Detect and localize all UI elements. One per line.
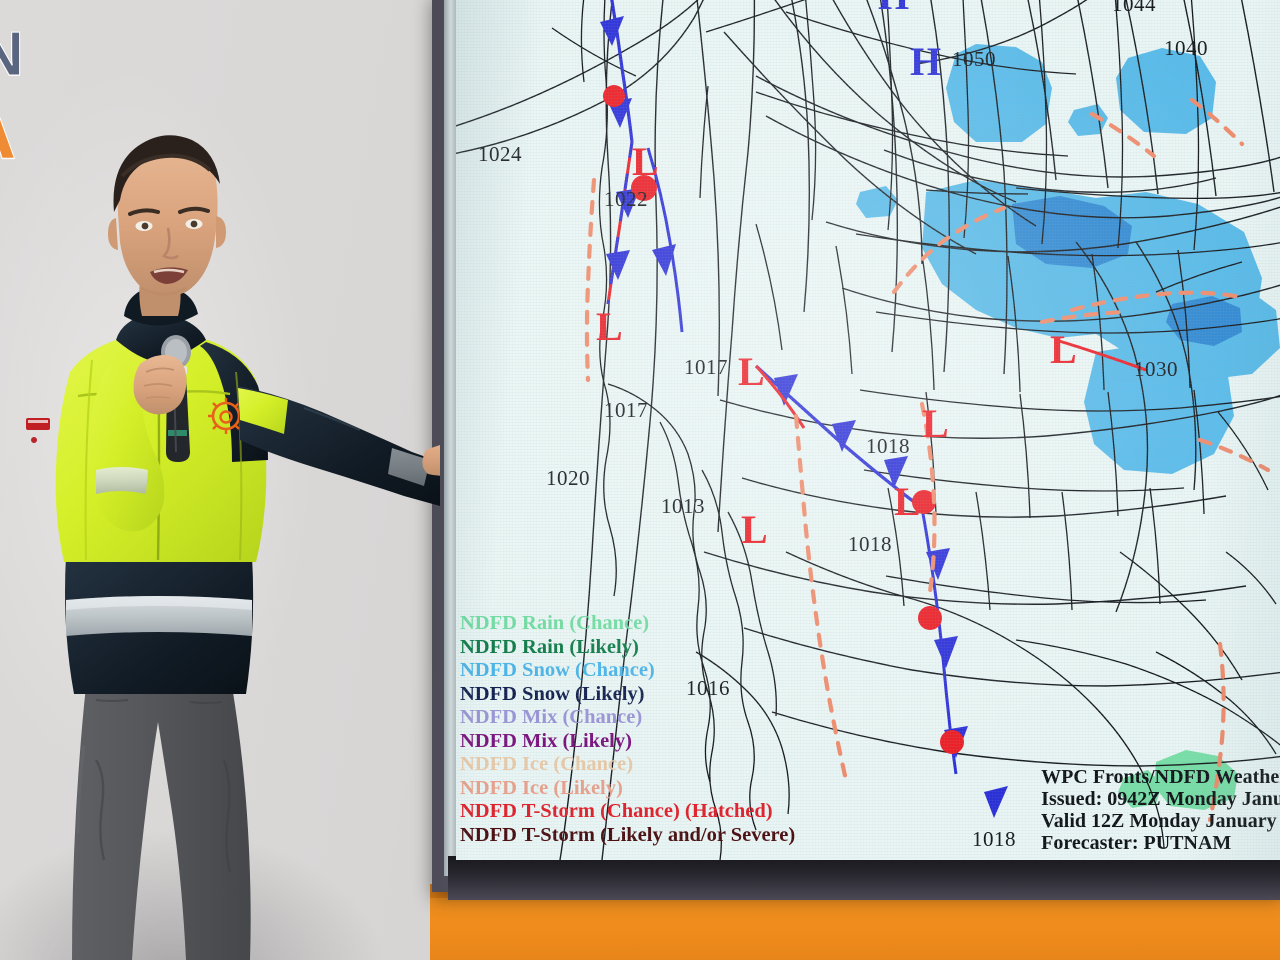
legend-item-snow-chance: NDFD Snow (Chance) [460, 659, 795, 683]
isobar-label: 1040 [1164, 36, 1208, 61]
credits-line-issued: Issued: 0942Z Monday Janua [1041, 788, 1280, 810]
legend-item-rain-chance: NDFD Rain (Chance) [460, 612, 795, 636]
presenter-arm-right-extended [238, 386, 440, 506]
legend-item-tstorm-chance: NDFD T-Storm (Chance) (Hatched) [460, 800, 795, 824]
isobar-label: 1022 [604, 187, 648, 212]
credits-line-valid: Valid 12Z Monday January 2 [1041, 810, 1280, 832]
low-pressure-marker: L [632, 142, 659, 182]
weather-map-display[interactable]: H H L L L L L L L 1024 1022 1017 1017 10… [456, 0, 1280, 860]
legend-item-mix-chance: NDFD Mix (Chance) [460, 706, 795, 730]
ndfd-legend: NDFD Rain (Chance) NDFD Rain (Likely) ND… [460, 612, 795, 847]
isobar-label: 1020 [546, 466, 590, 491]
credits-line-product: WPC Fronts/NDFD Weather [1041, 766, 1280, 788]
legend-item-ice-likely: NDFD Ice (Likely) [460, 777, 795, 801]
presenter-jacket-lower [65, 556, 253, 694]
stage-orange-band [430, 898, 1280, 960]
low-pressure-marker: L [741, 510, 768, 550]
isobar-label: 1024 [478, 142, 522, 167]
legend-item-mix-likely: NDFD Mix (Likely) [460, 730, 795, 754]
high-pressure-marker: H [878, 0, 909, 16]
legend-item-tstorm-severe: NDFD T-Storm (Likely and/or Severe) [460, 824, 795, 848]
low-pressure-marker: L [922, 404, 949, 444]
presenter-pants [72, 686, 251, 960]
presenter-head [108, 135, 226, 296]
isobar-label: 1017 [604, 398, 648, 423]
high-pressure-marker: H [910, 42, 941, 82]
isobar-label: 1030 [1134, 357, 1178, 382]
isobar-label: 1050 [952, 47, 996, 72]
low-pressure-marker: L [1050, 330, 1077, 370]
display-bottom-bezel [448, 856, 1280, 900]
credits-line-forecaster: Forecaster: PUTNAM [1041, 832, 1280, 854]
isobar-label: 1018 [972, 827, 1016, 852]
isobar-label: 1018 [866, 434, 910, 459]
sleeve-badge [26, 418, 50, 443]
isobar-label: 1017 [684, 355, 728, 380]
isobar-label: 1013 [661, 494, 705, 519]
isobar-label: 1044 [1112, 0, 1156, 17]
legend-item-ice-chance: NDFD Ice (Chance) [460, 753, 795, 777]
low-pressure-marker: L [596, 307, 623, 347]
legend-item-snow-likely: NDFD Snow (Likely) [460, 683, 795, 707]
presenter-hand-on-mic [134, 355, 187, 414]
presenter-figure [0, 0, 440, 960]
legend-item-rain-likely: NDFD Rain (Likely) [460, 636, 795, 660]
map-credits-block: WPC Fronts/NDFD Weather Issued: 0942Z Mo… [1041, 766, 1280, 854]
screenshot-stage: CÓN MA [0, 0, 1280, 960]
display-left-edge [444, 0, 456, 876]
low-pressure-marker: L [738, 352, 765, 392]
low-pressure-marker: L [894, 482, 921, 522]
isobar-label: 1018 [848, 532, 892, 557]
